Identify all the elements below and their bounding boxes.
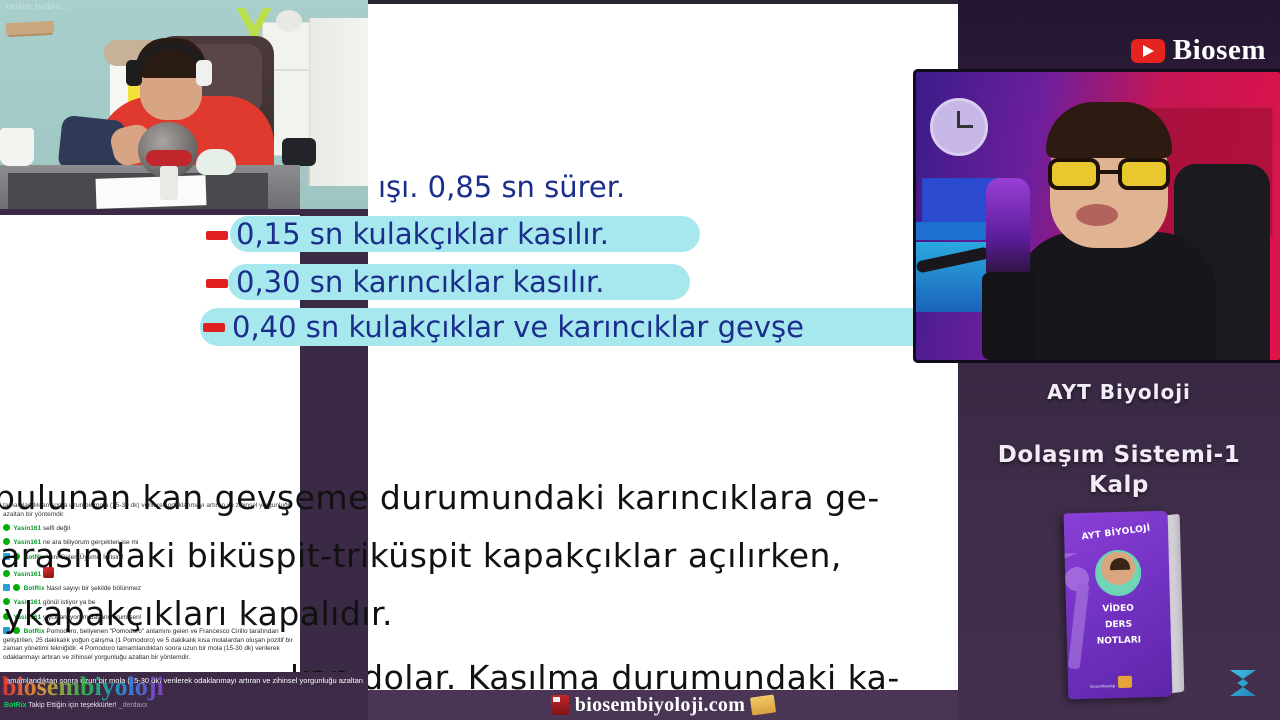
headphone-cup-right bbox=[196, 60, 212, 86]
notes-body-prefix: y bbox=[4, 596, 24, 635]
channel-name: Biosem bbox=[1173, 34, 1266, 67]
chat-username[interactable]: Yasin161 bbox=[13, 525, 41, 532]
chat-text: selfi değil bbox=[43, 525, 70, 532]
paper-notes bbox=[96, 175, 207, 209]
bullet-dash-icon bbox=[206, 231, 228, 240]
book-promo[interactable]: AYT BİYOLOJİ VİDEO DERS NOTLARI biosembi… bbox=[1064, 511, 1173, 700]
notes-bullet-1: 0,15 sn kulakçıklar kasılır. bbox=[236, 217, 609, 251]
microphone-stand bbox=[160, 166, 178, 200]
book-title: AYT BİYOLOJİ bbox=[1064, 521, 1168, 544]
headphone-cup-left bbox=[126, 60, 142, 86]
book-footer-icon bbox=[1118, 676, 1132, 688]
follow-notice-bar: biosembiyoloji BotRix Takip Ettiğin için… bbox=[0, 690, 368, 720]
follow-bot-name: BotRix bbox=[4, 702, 27, 709]
z-logo-icon bbox=[1230, 670, 1256, 696]
computer-mouse bbox=[196, 149, 236, 175]
glasses-bridge bbox=[1100, 170, 1118, 174]
notes-body-line-3: kapakçıkları kapalıdır. bbox=[24, 594, 393, 633]
channel-logo-text: biosembiyoloji bbox=[2, 672, 164, 702]
host-mouth bbox=[1076, 204, 1118, 226]
book-avatar bbox=[1095, 549, 1142, 596]
mod-badge-icon bbox=[3, 524, 10, 531]
sub-badge-icon bbox=[3, 584, 10, 591]
book-footer-text: biosembiyoloji bbox=[1090, 683, 1115, 689]
site-watermark-bar: biosembiyoloji.com bbox=[368, 690, 958, 720]
wall-clock-icon bbox=[930, 98, 988, 156]
webcam-streamer-inset: twitch.tv/bio... bbox=[0, 0, 368, 209]
follow-text: Takip Ettiğin için teşekkürler! bbox=[28, 702, 116, 709]
backpack bbox=[282, 138, 316, 166]
topic-line-2: Kalp bbox=[958, 472, 1280, 498]
bullet-dash-icon bbox=[203, 323, 225, 332]
chat-message: Yasin161 selfi değil bbox=[3, 524, 297, 534]
notebook-icon bbox=[750, 694, 776, 715]
follow-notice: BotRix Takip Ettiğin için teşekkürler! _… bbox=[0, 702, 147, 709]
mod-badge-icon bbox=[13, 584, 20, 591]
notes-line-top: ışı. 0,85 sn sürer. bbox=[378, 170, 625, 204]
book-subtitle-3: NOTLARI bbox=[1067, 635, 1171, 648]
chat-message: BotRix Nasıl sayıyı bir şekilde bölünmez bbox=[3, 584, 297, 594]
chat-message-list[interactable]: tamamlandıktan sonra uzun bir mola (15-3… bbox=[0, 500, 300, 669]
youtube-play-icon bbox=[1131, 39, 1165, 63]
notes-top-border bbox=[368, 0, 958, 4]
red-book-icon bbox=[551, 695, 569, 715]
coffee-mug bbox=[0, 128, 34, 166]
glasses-lens-left bbox=[1048, 158, 1100, 190]
bullet-dash-icon bbox=[206, 279, 228, 288]
glasses-lens-right bbox=[1118, 158, 1170, 190]
notes-bullet-3: 0,40 sn kulakçıklar ve karıncıklar gevşe bbox=[232, 310, 804, 344]
stream-screen: tamamlandıktan sonra uzun bir mola (15-3… bbox=[0, 0, 1280, 720]
chat-username[interactable]: BotRix bbox=[24, 585, 45, 592]
studio-microphone bbox=[986, 178, 1030, 284]
room-door bbox=[308, 18, 368, 186]
notes-bullet-2: 0,30 sn karıncıklar kasılır. bbox=[236, 265, 605, 299]
topic-line-1: Dolaşım Sistemi-1 bbox=[958, 442, 1280, 468]
book-subtitle-2: DERS bbox=[1066, 619, 1170, 632]
microphone-red-band bbox=[146, 150, 192, 166]
book-subtitle-1: VİDEO bbox=[1066, 603, 1170, 616]
handwritten-notes-sheet bbox=[368, 0, 958, 700]
follow-username: _derdaxx bbox=[119, 702, 148, 709]
chat-text: Nasıl sayıyı bir şekilde bölünmez bbox=[46, 585, 141, 592]
subject-label: AYT Biyoloji bbox=[958, 380, 1280, 404]
microphone-shock-mount bbox=[982, 272, 1036, 360]
notes-body-line-1: bulunan kan gevşeme durumundaki karıncık… bbox=[0, 478, 880, 517]
yellow-glasses-icon bbox=[1048, 158, 1170, 192]
notes-body-line-2: arasındaki biküspit-triküspit kapakçıkla… bbox=[0, 536, 842, 575]
youtube-brand[interactable]: Biosem bbox=[1131, 34, 1266, 67]
wall-shelf bbox=[6, 21, 55, 35]
stream-overlay-text: twitch.tv/bio... bbox=[6, 2, 70, 11]
host-torso bbox=[1016, 232, 1216, 360]
webcam-host-inset bbox=[916, 72, 1280, 360]
book-cover: AYT BİYOLOJİ VİDEO DERS NOTLARI biosembi… bbox=[1064, 511, 1173, 700]
site-url: biosembiyoloji.com bbox=[575, 694, 745, 717]
